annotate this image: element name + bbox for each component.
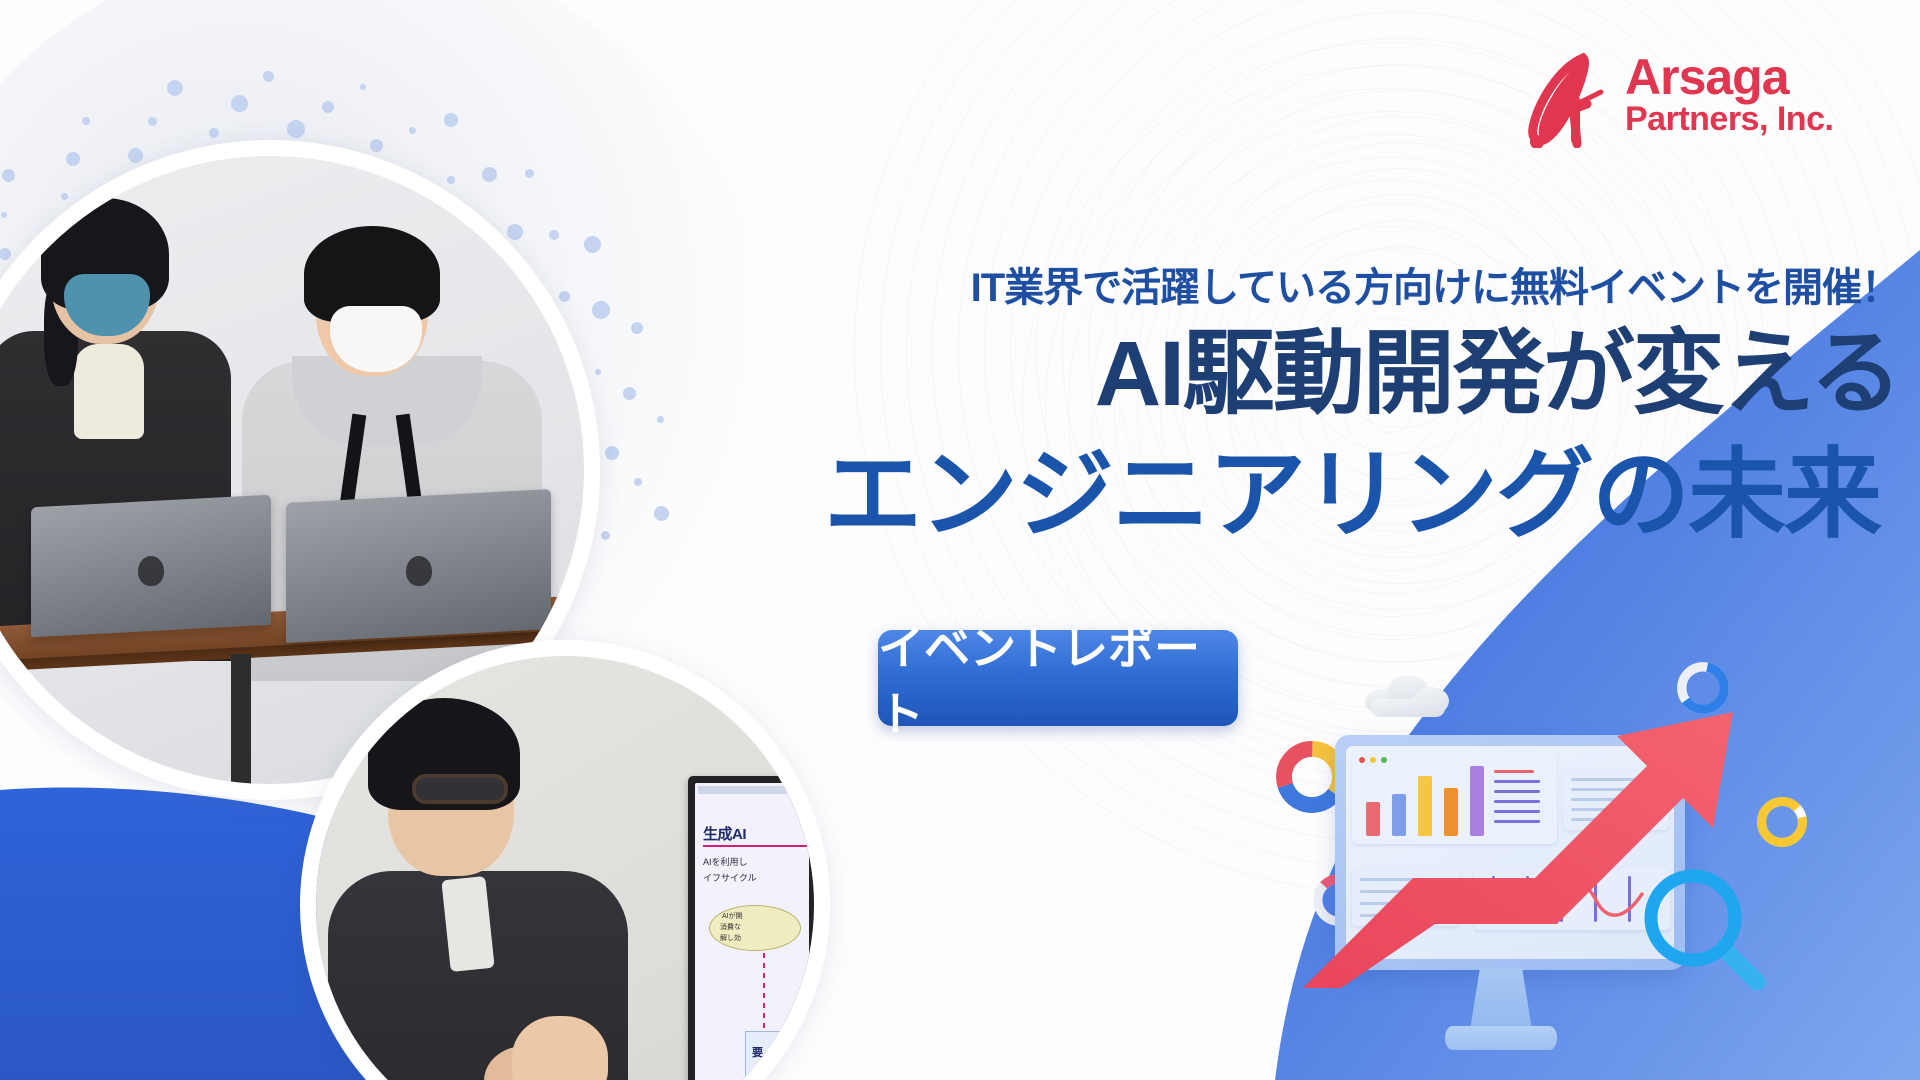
slide-line-1: AIを利用し xyxy=(703,855,748,868)
slide-title: 生成AI xyxy=(703,823,746,844)
arsaga-a-mark-icon xyxy=(1525,52,1615,148)
decorative-dot xyxy=(322,101,334,113)
hero-title-line-2: エンジニアリングの未来 xyxy=(700,445,1880,543)
decorative-dot xyxy=(657,416,664,423)
decorative-dot xyxy=(231,95,248,112)
photo-presenter-with-slide: 生成AI AIを利用し イフサイクル AIが開 消費な 解し効 要 xyxy=(300,640,830,1080)
monitor-base xyxy=(1445,1026,1557,1050)
decorative-dot xyxy=(209,128,219,138)
decorative-dot xyxy=(631,322,643,334)
brand-name-line1: Arsaga xyxy=(1625,48,1789,106)
decorative-dot xyxy=(601,531,610,540)
decorative-dot xyxy=(167,80,183,96)
hero-title-line-1: AI駆動開発が変える xyxy=(720,328,1900,420)
slide-oval-1: AIが開 xyxy=(722,911,743,921)
decorative-dot xyxy=(605,446,619,460)
brand-logo: Arsaga Partners, Inc. xyxy=(1525,48,1865,148)
ring-yellow-icon xyxy=(1755,795,1809,849)
decorative-dot xyxy=(584,236,601,253)
analytics-illustration xyxy=(1255,640,1795,1080)
photo2-glasses xyxy=(412,774,508,804)
banner-root: Arsaga Partners, Inc. xyxy=(0,0,1920,1080)
slide-box-label: 要 xyxy=(752,1044,763,1060)
photo2-presentation-display: 生成AI AIを利用し イフサイクル AIが開 消費な 解し効 要 xyxy=(688,776,816,1080)
brand-name-line2: Partners, Inc. xyxy=(1625,100,1833,139)
decorative-dot xyxy=(148,117,157,126)
hero-subtitle: IT業界で活躍している方向けに無料イベントを開催！ xyxy=(820,255,1900,313)
decorative-dot xyxy=(263,71,274,82)
slide-oval-3: 解し効 xyxy=(720,933,741,943)
decorative-dot xyxy=(595,369,601,375)
magnifier-icon xyxy=(1635,860,1765,990)
decorative-dot xyxy=(634,478,642,486)
slide-line-2: イフサイクル xyxy=(703,871,757,884)
decorative-dot xyxy=(360,84,366,90)
event-report-badge-label: イベントレポート xyxy=(878,612,1238,744)
decorative-dot xyxy=(370,139,383,152)
event-report-badge[interactable]: イベントレポート xyxy=(878,630,1238,726)
slide-oval-2: 消費な xyxy=(720,922,741,932)
